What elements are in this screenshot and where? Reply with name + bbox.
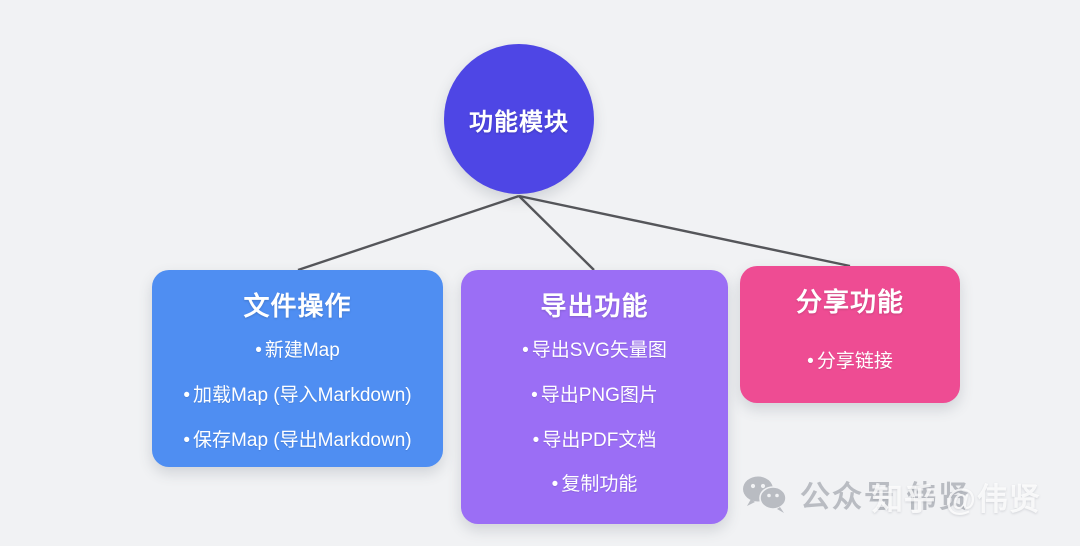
list-item[interactable]: •导出SVG矢量图 bbox=[461, 329, 728, 374]
branch-item-label: 导出SVG矢量图 bbox=[532, 340, 667, 361]
list-item[interactable]: •导出PNG图片 bbox=[461, 374, 728, 419]
list-item[interactable]: •导出PDF文档 bbox=[461, 419, 728, 464]
bullet-icon: • bbox=[807, 351, 814, 372]
list-item[interactable]: •复制功能 bbox=[461, 463, 728, 508]
branch-title-file: 文件操作 bbox=[243, 286, 351, 323]
branch-item-label: 保存Map (导出Markdown) bbox=[193, 430, 412, 451]
edge-root-to-file bbox=[298, 196, 519, 270]
branch-item-list-share: •分享链接 bbox=[740, 325, 960, 385]
edge-root-to-export bbox=[519, 196, 594, 270]
branch-item-label: 复制功能 bbox=[561, 474, 637, 495]
branch-item-list-file: •新建Map •加载Map (导入Markdown) •保存Map (导出Mar… bbox=[152, 329, 443, 463]
bullet-icon: • bbox=[522, 340, 529, 361]
bullet-icon: • bbox=[183, 385, 190, 406]
list-item[interactable]: •分享链接 bbox=[740, 325, 960, 385]
bullet-icon: • bbox=[533, 430, 540, 451]
root-node-title: 功能模块 bbox=[469, 102, 569, 137]
list-item[interactable]: •保存Map (导出Markdown) bbox=[152, 419, 443, 464]
bullet-icon: • bbox=[531, 385, 538, 406]
branch-node-file[interactable]: 文件操作 •新建Map •加载Map (导入Markdown) •保存Map (… bbox=[152, 270, 443, 467]
wechat-icon bbox=[742, 475, 788, 513]
root-node[interactable]: 功能模块 bbox=[444, 44, 594, 194]
edge-root-to-share bbox=[519, 196, 850, 266]
branch-item-label: 加载Map (导入Markdown) bbox=[193, 385, 412, 406]
branch-item-label: 导出PNG图片 bbox=[541, 385, 658, 406]
bullet-icon: • bbox=[183, 430, 190, 451]
branch-title-export: 导出功能 bbox=[540, 286, 648, 323]
branch-item-label: 分享链接 bbox=[817, 351, 893, 372]
mindmap-canvas: 功能模块 文件操作 •新建Map •加载Map (导入Markdown) •保存… bbox=[0, 0, 1080, 546]
list-item[interactable]: •新建Map bbox=[152, 329, 443, 374]
branch-item-list-export: •导出SVG矢量图 •导出PNG图片 •导出PDF文档 •复制功能 bbox=[461, 329, 728, 508]
bullet-icon: • bbox=[255, 340, 262, 361]
zhihu-watermark-label: 知乎 @伟贤 bbox=[872, 474, 1041, 519]
bullet-icon: • bbox=[552, 474, 559, 495]
branch-item-label: 导出PDF文档 bbox=[542, 430, 656, 451]
branch-node-export[interactable]: 导出功能 •导出SVG矢量图 •导出PNG图片 •导出PDF文档 •复制功能 bbox=[461, 270, 728, 524]
branch-item-label: 新建Map bbox=[265, 340, 340, 361]
branch-node-share[interactable]: 分享功能 •分享链接 bbox=[740, 266, 960, 403]
branch-title-share: 分享功能 bbox=[796, 282, 904, 319]
list-item[interactable]: •加载Map (导入Markdown) bbox=[152, 374, 443, 419]
